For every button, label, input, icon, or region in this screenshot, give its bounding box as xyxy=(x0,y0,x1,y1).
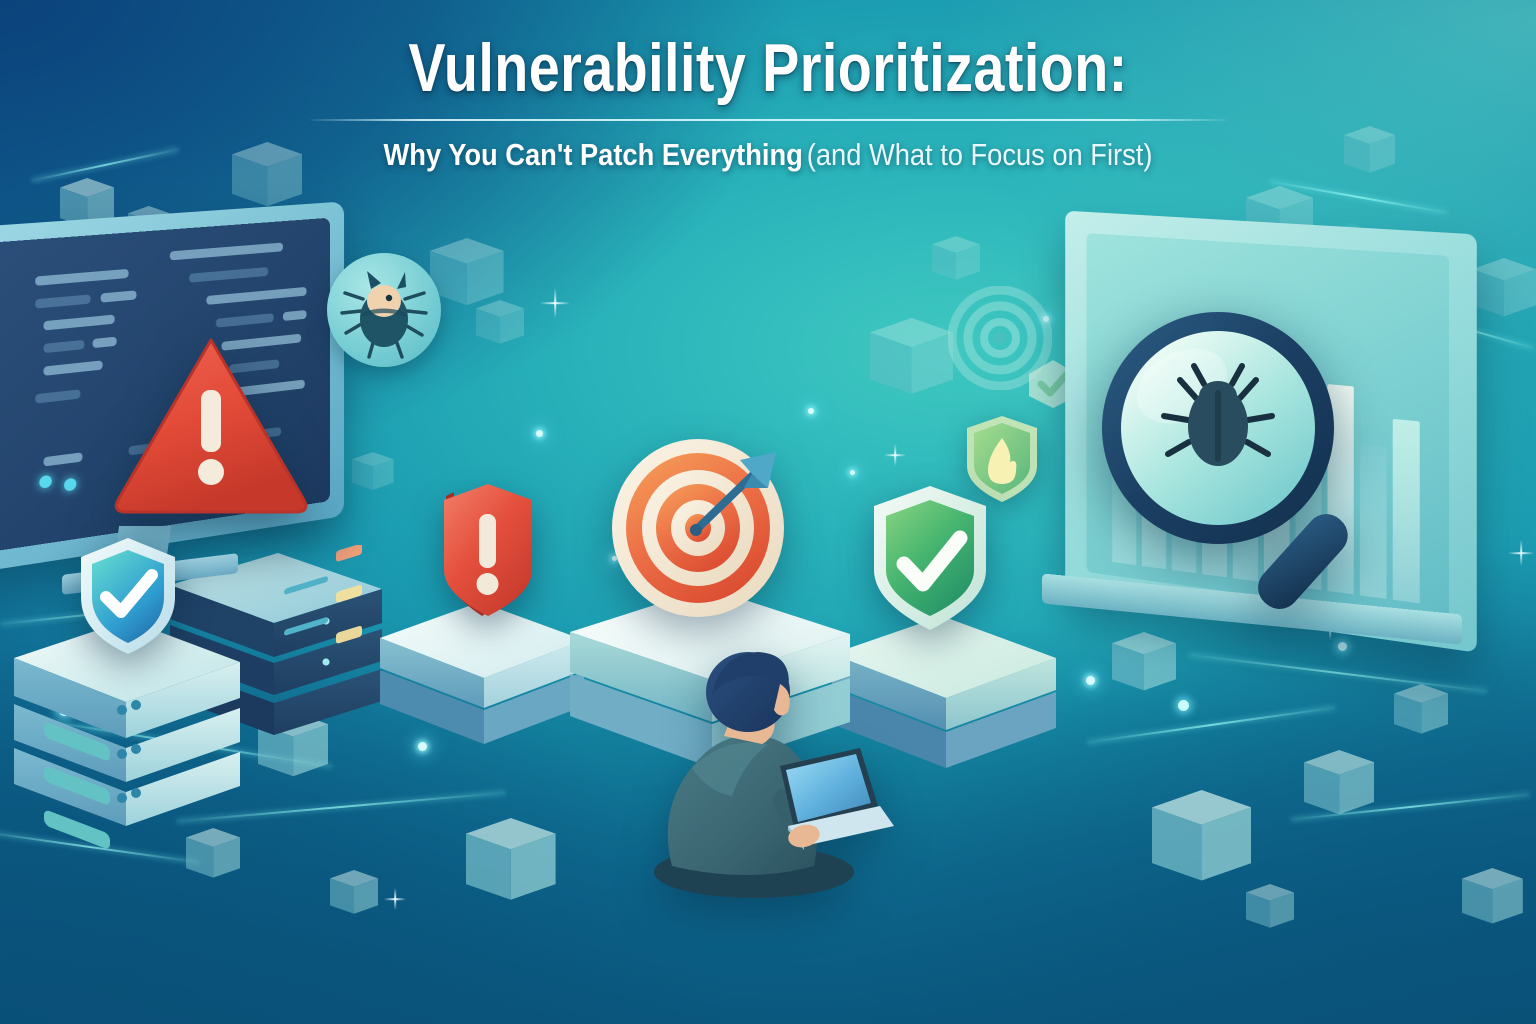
alert-shield-red-icon xyxy=(432,478,544,628)
star-glint xyxy=(1508,540,1534,566)
floating-cube xyxy=(932,236,980,287)
code-line xyxy=(43,360,102,376)
floating-cube xyxy=(1472,258,1536,326)
sparkle-dot xyxy=(536,430,543,437)
page-subtitle: Why You Can't Patch Everything (and What… xyxy=(92,137,1444,173)
status-dot xyxy=(64,478,76,492)
floating-cube xyxy=(1304,750,1374,825)
hero-illustration: Vulnerability Prioritization: Why You Ca… xyxy=(0,0,1536,1024)
star-glint xyxy=(884,444,906,466)
status-dot xyxy=(39,475,51,489)
title-divider xyxy=(311,119,1226,121)
floating-cube xyxy=(1152,790,1251,895)
title-block: Vulnerability Prioritization: Why You Ca… xyxy=(0,34,1536,173)
code-line xyxy=(35,269,128,286)
bullseye-target-icon xyxy=(608,438,788,618)
sparkle-dot xyxy=(1086,676,1095,685)
floating-cube xyxy=(476,300,524,351)
shield-check-blue-icon xyxy=(75,535,181,657)
star-glint xyxy=(384,888,406,910)
sparkle-dot xyxy=(808,408,814,414)
warning-triangle-icon xyxy=(108,332,314,518)
code-line xyxy=(101,290,137,302)
floating-cube xyxy=(1462,868,1523,933)
code-line xyxy=(206,287,306,305)
code-line xyxy=(35,389,80,403)
code-line xyxy=(43,340,84,353)
floating-cube xyxy=(1394,684,1448,742)
subtitle-strong: Why You Can't Patch Everything xyxy=(384,137,803,172)
code-line xyxy=(43,452,82,466)
star-glint xyxy=(540,288,570,318)
code-line xyxy=(43,315,114,331)
floating-cube xyxy=(1112,632,1176,700)
floating-cube xyxy=(1246,884,1294,935)
floating-cube xyxy=(870,318,953,406)
person-with-laptop xyxy=(628,640,928,900)
magnifying-glass-bug-icon xyxy=(1090,300,1420,630)
floating-cube xyxy=(330,870,378,921)
code-line xyxy=(170,243,283,261)
subtitle-light: (and What to Focus on First) xyxy=(807,137,1153,172)
bug-badge-icon xyxy=(327,253,441,367)
code-line xyxy=(216,313,274,328)
floating-cube xyxy=(352,452,394,496)
shield-check-green-icon xyxy=(866,482,994,634)
page-title: Vulnerability Prioritization: xyxy=(138,34,1398,103)
code-line xyxy=(35,294,90,308)
sparkle-dot xyxy=(850,470,855,475)
bug-icon xyxy=(327,253,441,367)
code-line xyxy=(283,310,307,321)
floating-cube xyxy=(466,818,556,913)
code-line xyxy=(189,267,268,283)
